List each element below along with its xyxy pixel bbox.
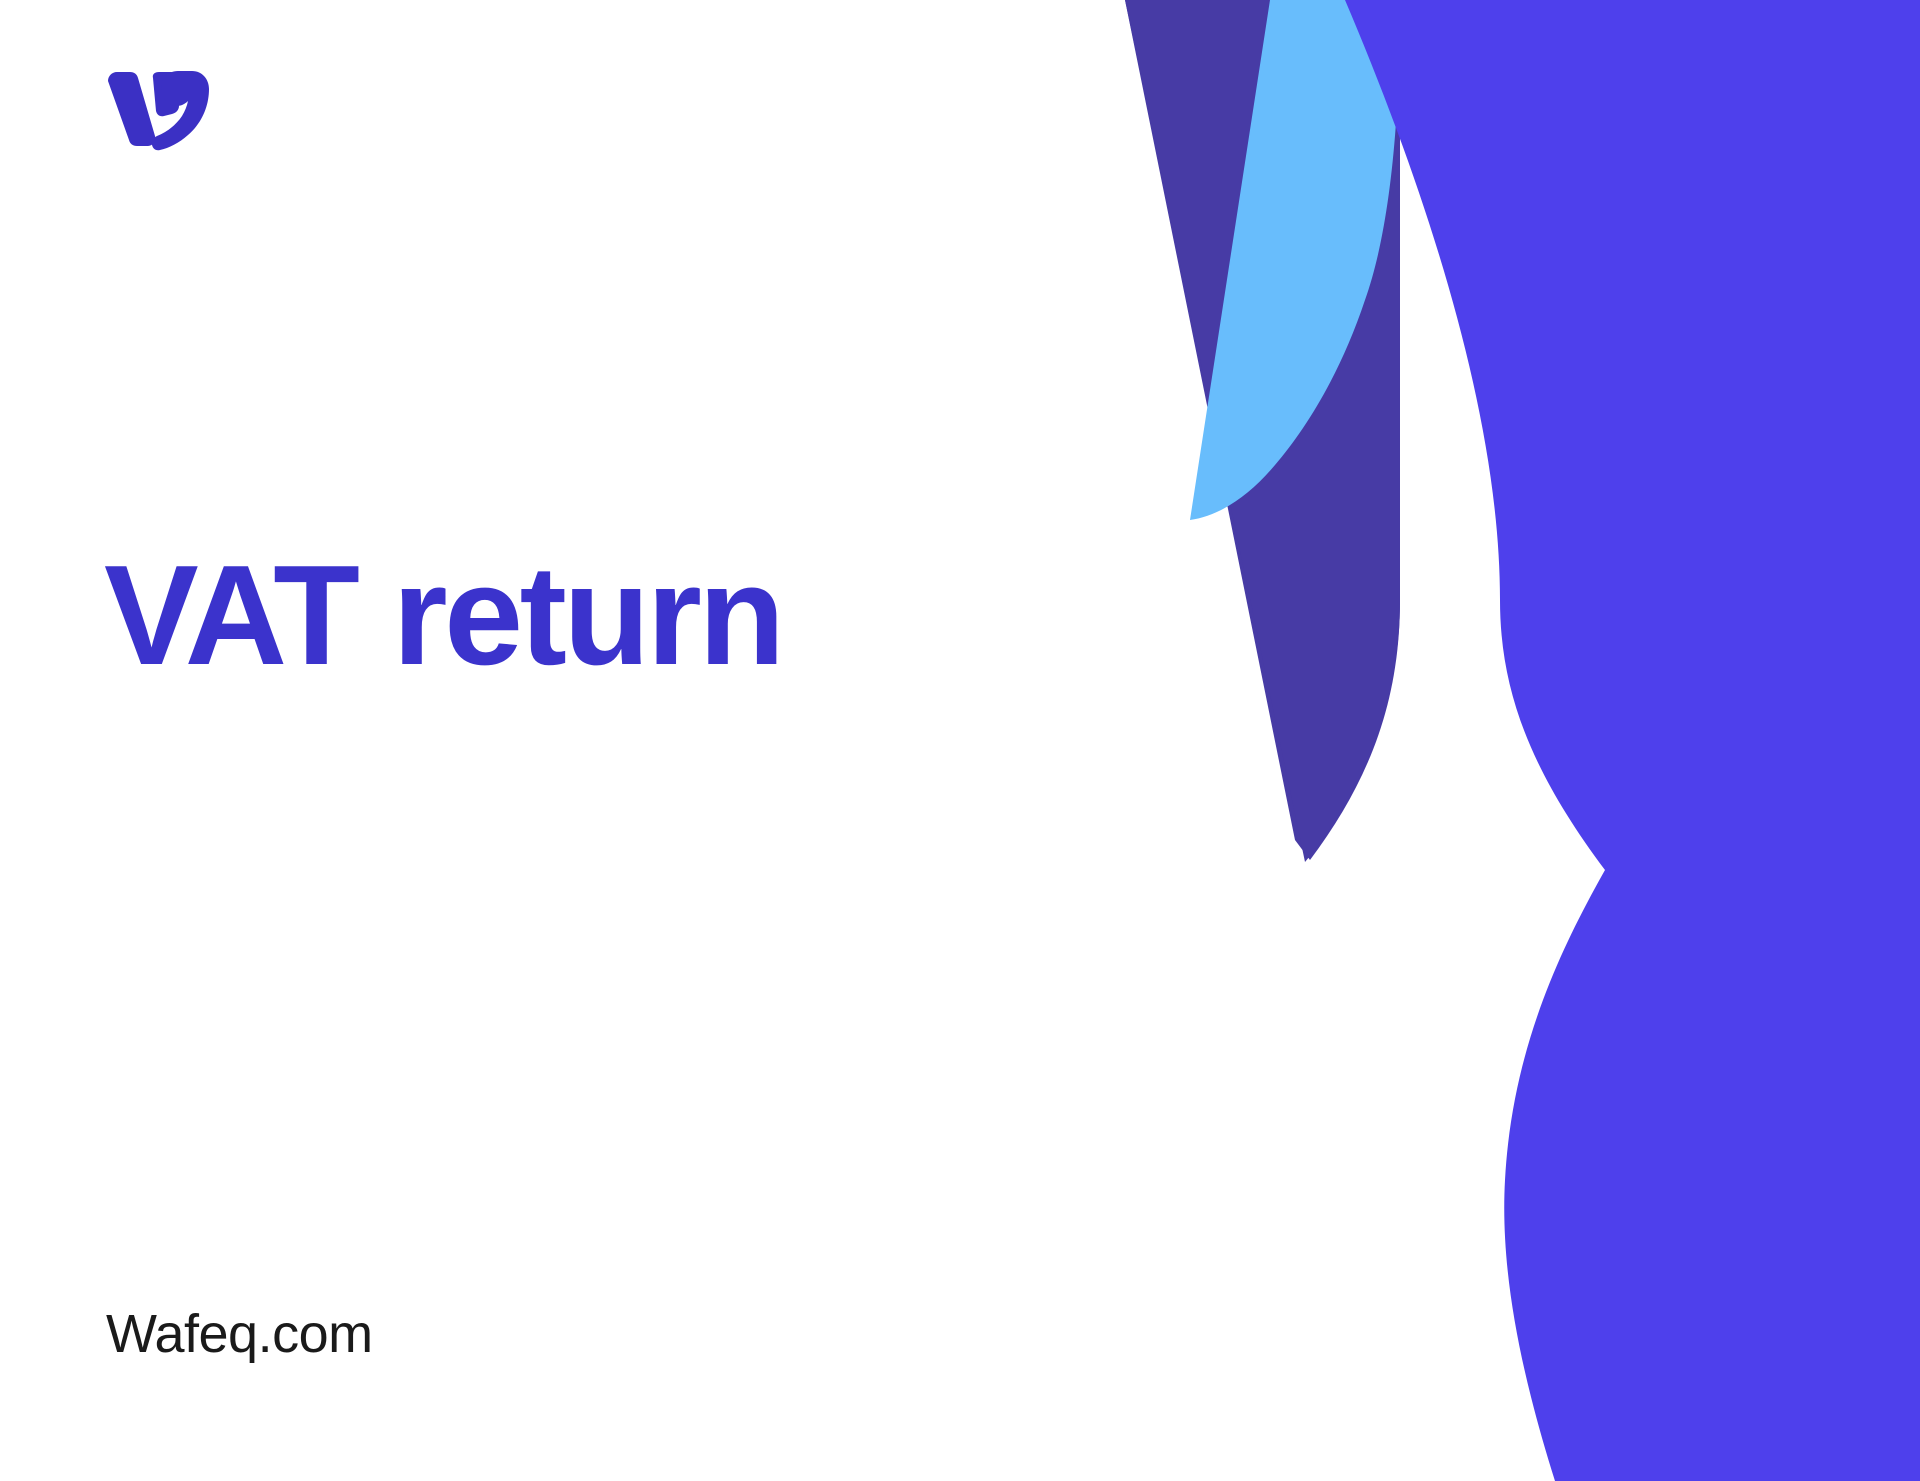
logo-stroke-left xyxy=(108,72,155,146)
light-blue-teardrop xyxy=(1190,0,1400,520)
wafeq-logo[interactable] xyxy=(104,58,212,154)
page-title: VAT return xyxy=(104,545,782,687)
dark-indigo-band xyxy=(1125,0,1400,860)
bright-indigo-panel xyxy=(1345,0,1920,1481)
angled-ribbon-graphic xyxy=(1100,0,1920,1481)
dark-indigo-band-body xyxy=(1125,0,1400,862)
slide-canvas: VAT return Wafeq.com xyxy=(0,0,1920,1481)
footer-website-url[interactable]: Wafeq.com xyxy=(106,1305,373,1364)
